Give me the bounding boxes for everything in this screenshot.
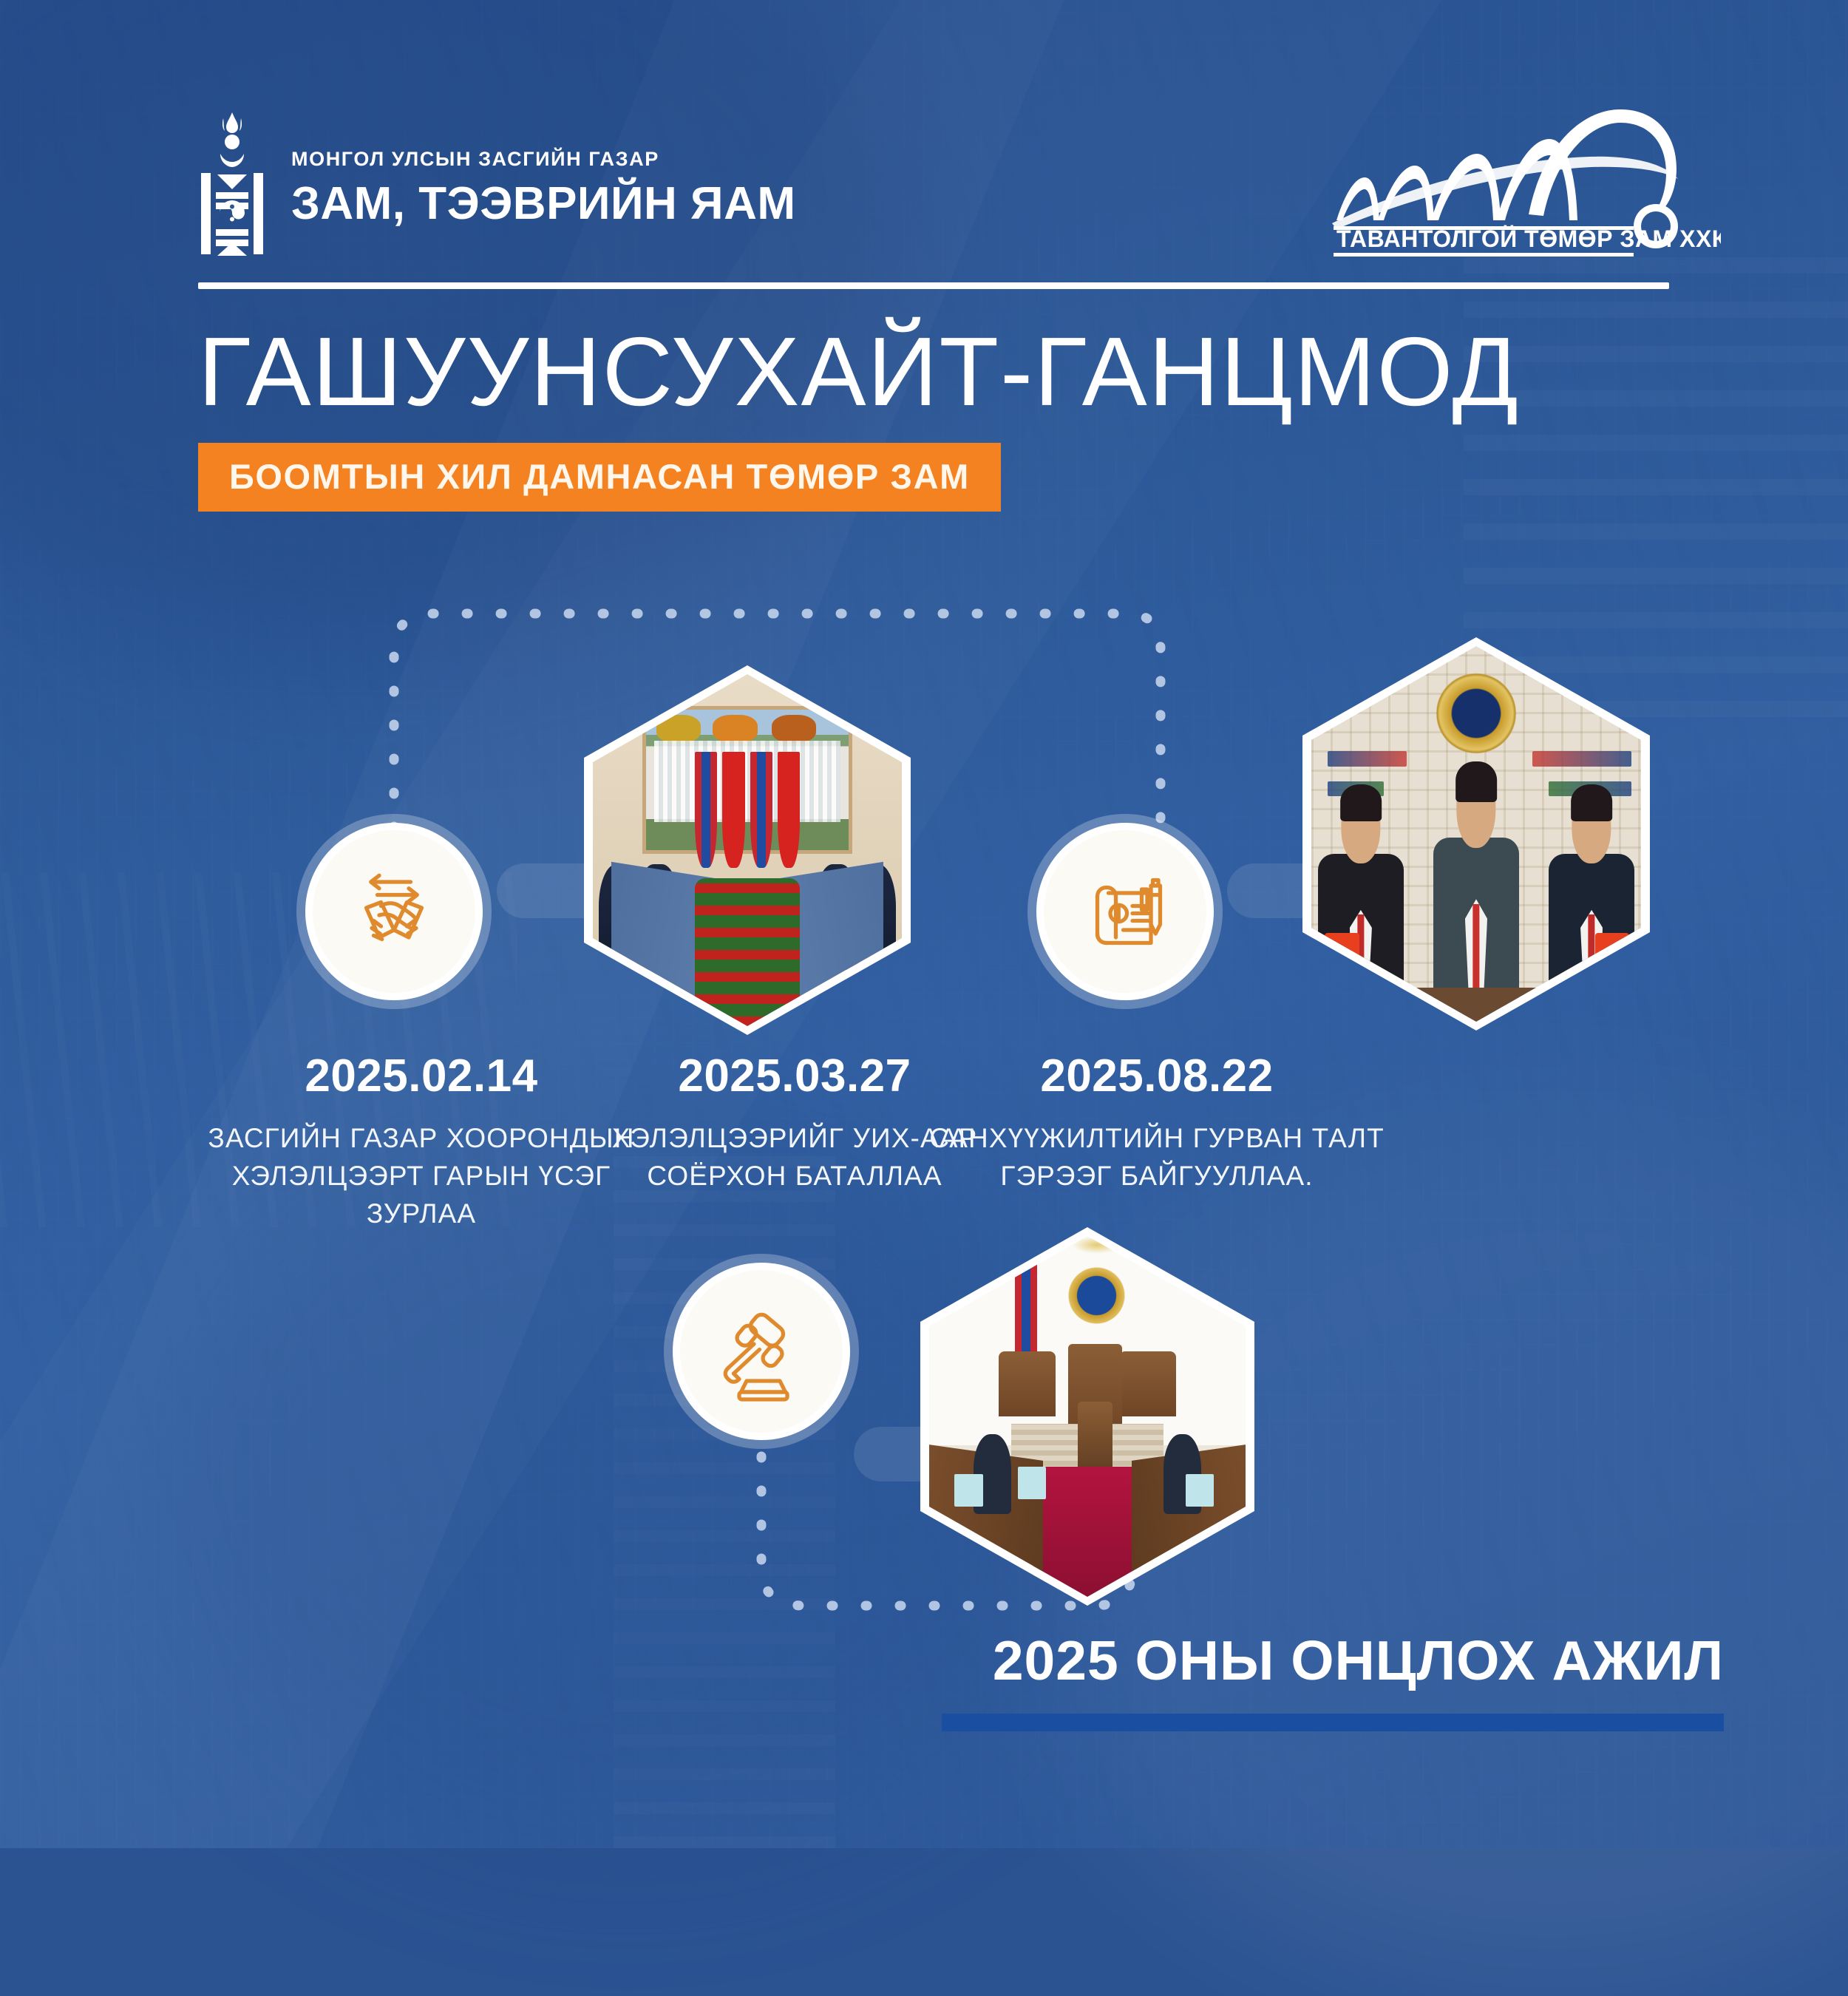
handshake-exchange-icon (339, 856, 449, 967)
timeline-caption-3: 2025.08.22 САНХҮҮЖИЛТИЙН ГУРВАН ТАЛТ ГЭР… (920, 1052, 1393, 1195)
timeline-caption-1: 2025.02.14 ЗАСГИЙН ГАЗАР ХООРОНДЫН ХЭЛЭЛ… (185, 1052, 658, 1232)
footer-title: 2025 ОНЫ ОНЦЛОХ АЖИЛ (942, 1633, 1724, 1688)
timeline-text-1: ЗАСГИЙН ГАЗАР ХООРОНДЫН ХЭЛЭЛЦЭЭРТ ГАРЫН… (185, 1119, 658, 1232)
timeline-icon-gavel[interactable] (680, 1270, 843, 1433)
contract-signing-icon (1070, 856, 1181, 967)
footer-section: 2025 ОНЫ ОНЦЛОХ АЖИЛ (942, 1633, 1724, 1731)
timeline-icon-handshake[interactable] (313, 830, 475, 993)
timeline-date-3: 2025.08.22 (920, 1052, 1393, 1100)
timeline-date-1: 2025.02.14 (185, 1052, 658, 1100)
footer-accent-bar (942, 1714, 1724, 1731)
timeline-section: 2025.02.14 ЗАСГИЙН ГАЗАР ХООРОНДЫН ХЭЛЭЛ… (0, 0, 1848, 1848)
gavel-icon (706, 1296, 817, 1407)
timeline-text-3: САНХҮҮЖИЛТИЙН ГУРВАН ТАЛТ ГЭРЭЭГ БАЙГУУЛ… (920, 1119, 1393, 1195)
timeline-icon-contract[interactable] (1044, 830, 1206, 993)
